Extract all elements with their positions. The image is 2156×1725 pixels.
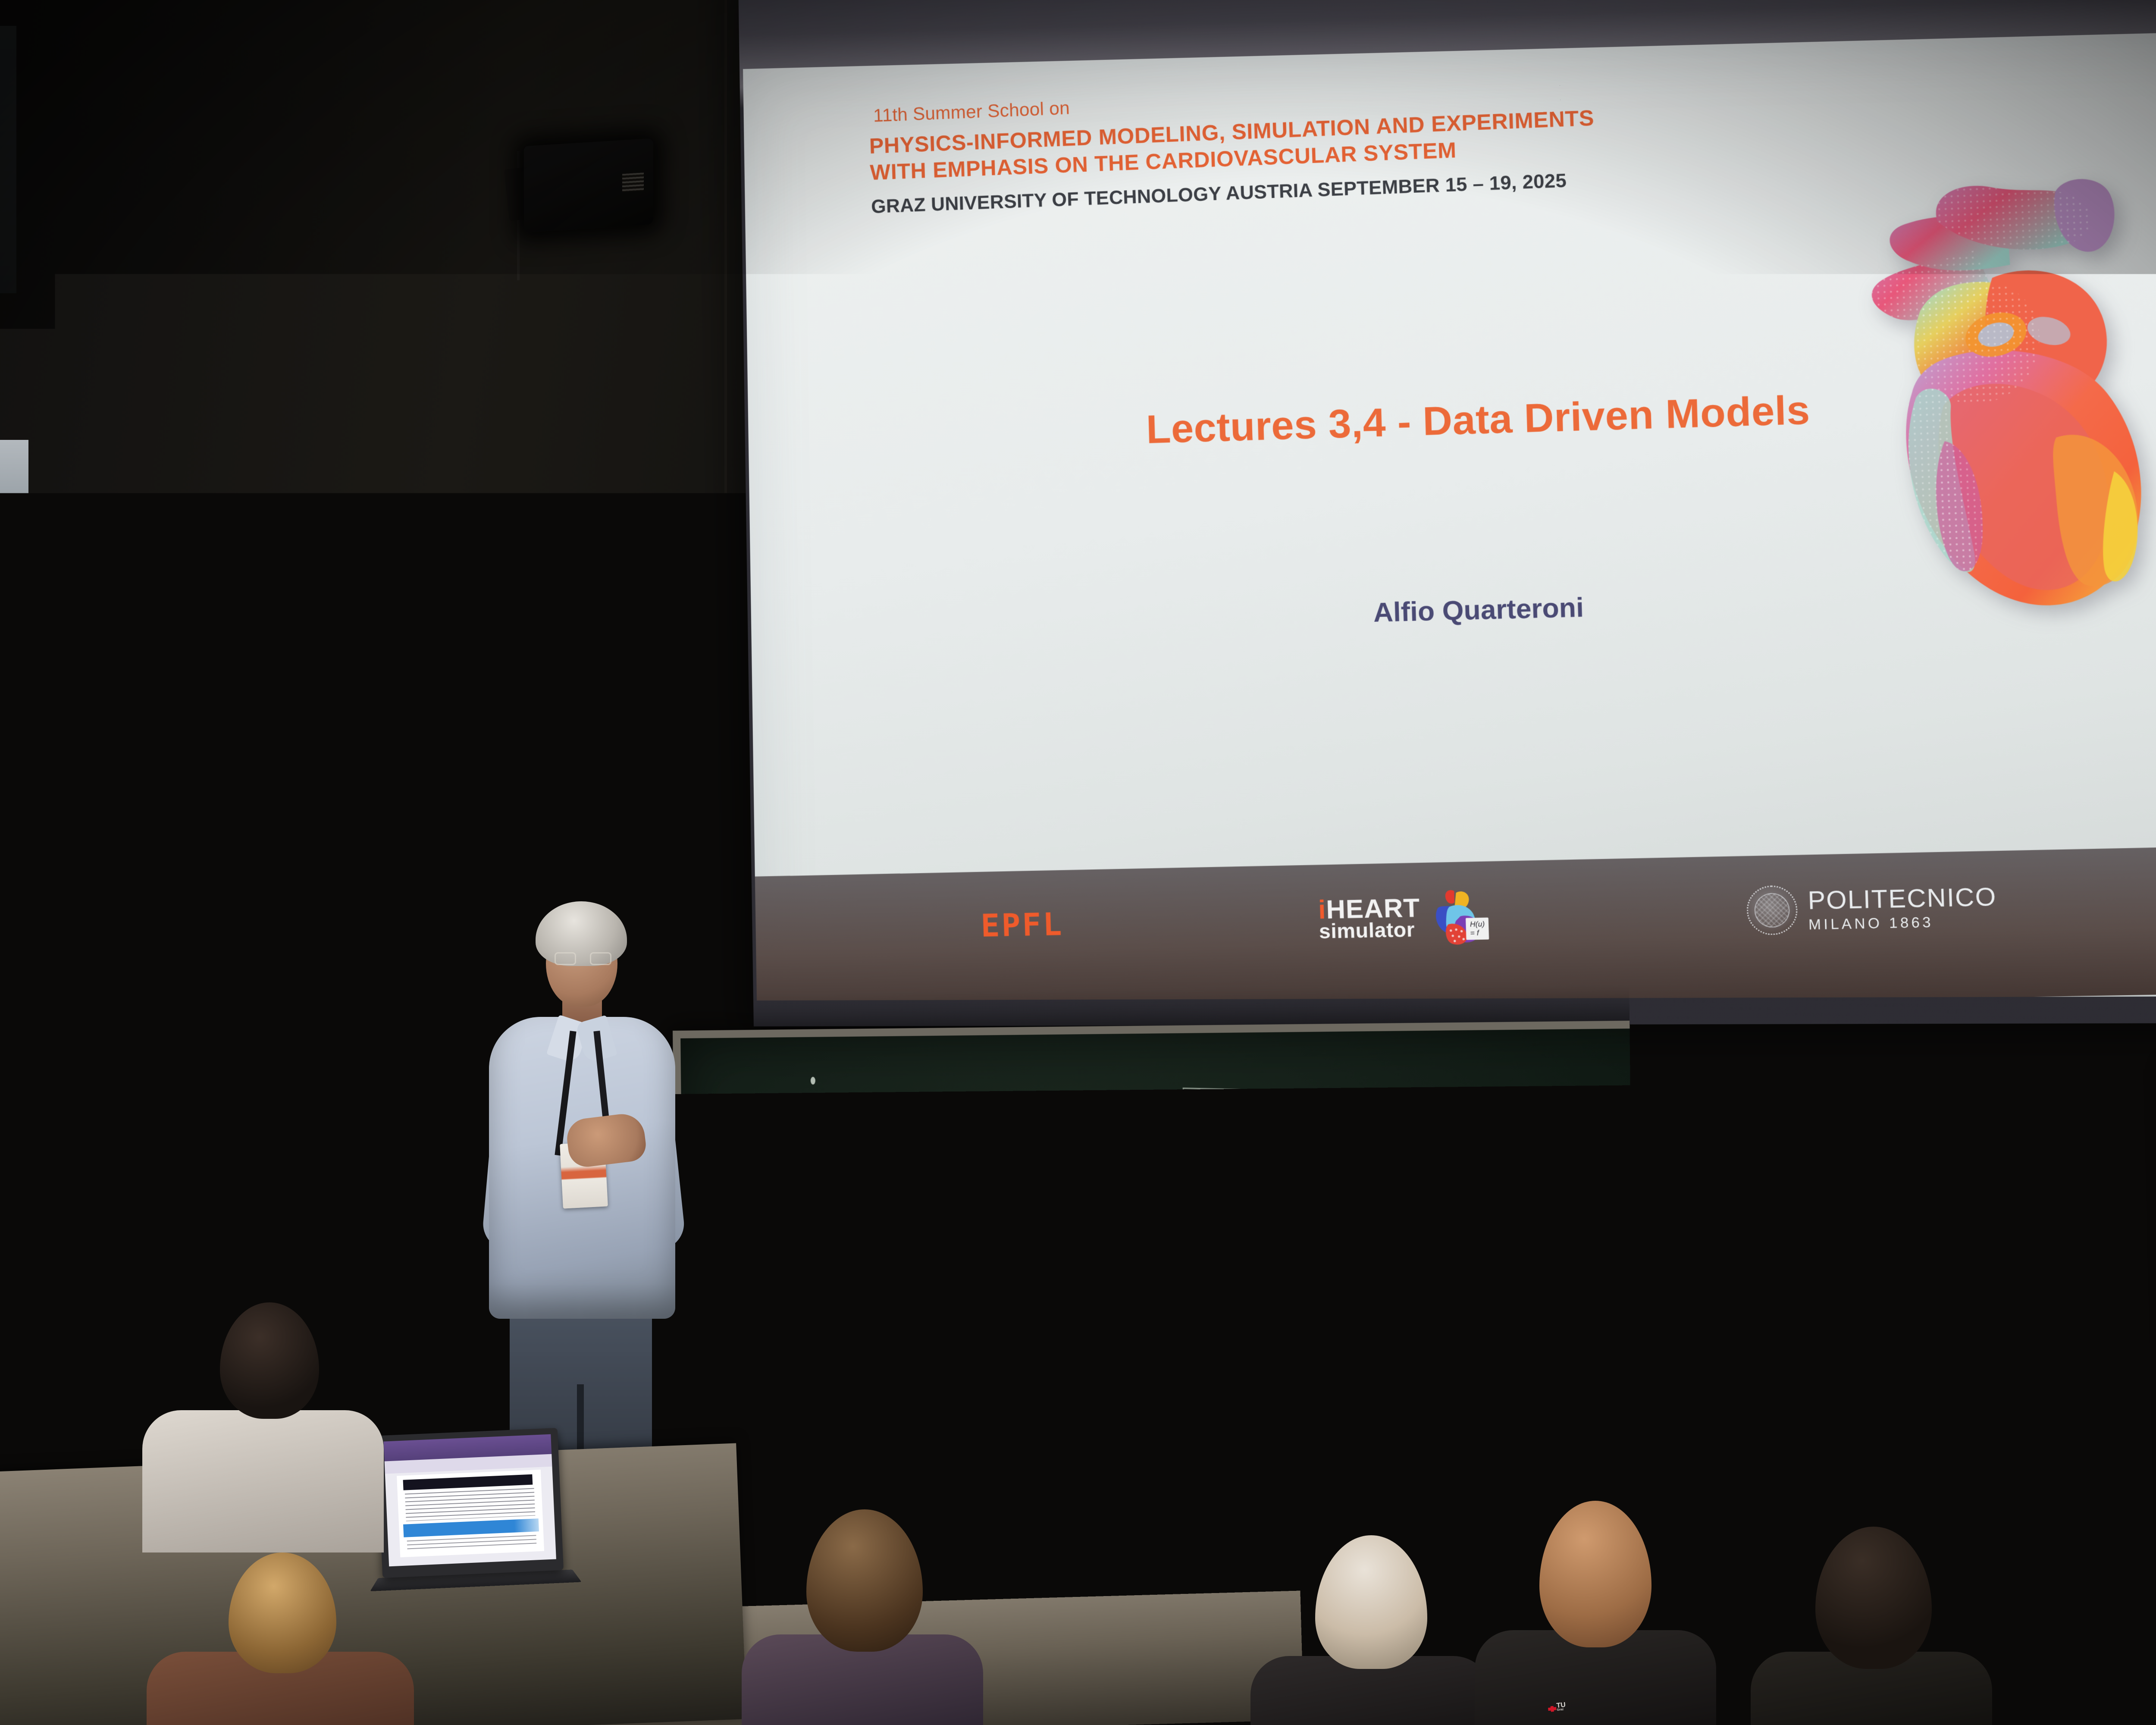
document-page [397,1470,544,1557]
document-selected-heading [403,1474,533,1490]
presenter [470,901,694,1514]
wall-seam [0,742,759,744]
anatomical-heart-icon [264,881,376,986]
slide-superscript: 11th Summer School on [873,97,1070,126]
poster-superscript: 11ᵗʰ Summer School on [251,805,379,814]
document-footer-text [407,1535,537,1552]
clock-brand-mark [433,623,460,630]
poster-title-line-1: PHYSICS-INFORMED MODELING, SIMULATION [251,813,380,831]
epfl-logo: EPFL [980,906,1064,944]
audience-head [220,1302,319,1419]
audience-head-with-cap [1315,1535,1427,1669]
poster-title-line-2: AND EXPERIMENTS WITH EMPHASIS ON THE [251,828,380,846]
lecture-hall-photo: 11ᵗʰ Summer School on PHYSICS-INFORMED M… [0,0,2156,1725]
iheart-subtitle: simulator [1319,920,1421,941]
audience-head [2083,1578,2156,1690]
audience-member-5: TU Graz [1475,1501,1716,1725]
audience-head [229,1552,336,1673]
wall-seam [724,0,727,1121]
document-body-text [405,1488,536,1521]
politecnico-wordmark: POLITECNICO [1808,884,1997,913]
politecnico-milano-logo: POLITECNICO MILANO 1863 [1746,881,1998,935]
iheart-equation-badge: H(u) = f [1466,918,1489,940]
audience-head [806,1509,923,1652]
audience-member-2 [147,1552,414,1725]
audience-head [1815,1527,1932,1669]
window-light-sliver [0,440,28,578]
audience-member-6 [1751,1527,1992,1725]
chalk-training-set-label: TRAINING SET [787,1335,948,1366]
clock-face [390,547,503,660]
poster-divider [259,854,375,856]
iheart-heart-icon: H(u) = f [1426,887,1487,946]
clock-minute-hand [445,571,467,609]
projection-screen: 11th Summer School on PHYSICS-INFORMED M… [738,0,2156,1026]
tu-graz-logo: TU Graz [259,1046,278,1054]
poster-title-line-3: CARDIOVASCULAR SYSTEM [252,844,381,853]
presentation-slide: 11th Summer School on PHYSICS-INFORMED M… [743,31,2156,1000]
politecnico-crest-icon [1746,885,1798,935]
wall-clock [390,547,503,660]
tu-cross-icon [259,1047,269,1054]
audience-member-1 [142,1302,384,1544]
speaker-grill-icon [622,172,644,192]
chalk-function-symbol: f [985,1165,998,1204]
wall-poster-small: 11ᵗʰ Summer School on PHYSICS-INFORMED M… [243,790,396,1060]
poster-heart-artwork [254,881,386,991]
heart-mesh-colormap-icon [1852,165,2156,641]
window-edge [0,26,16,293]
laptop-screen[interactable] [384,1434,556,1567]
eyeglasses-icon [555,952,611,965]
chalk-output-label: OUTPUT [1200,1105,1282,1126]
chalk-arrow-icon [924,1117,1130,1205]
audience-member-4 [1250,1535,1492,1725]
water-glass [242,1113,277,1160]
iheart-simulator-logo: iHEART simulator [1318,887,1487,948]
audience-torso [142,1410,384,1552]
document-highlighted-row [403,1518,539,1537]
poster-date: SEPTEMBER 15-19, 2025 [253,872,382,881]
tu-graz-logo: TU Graz [1548,1703,1566,1712]
politecnico-subtitle: MILANO 1863 [1808,913,1998,931]
audience-member-7 [2018,1578,2156,1725]
chalk-model-label: (MODEL) [960,1260,1039,1280]
chalkboard-surface: f (MODEL) OUTPUT TRAINING SET [680,1023,2156,1573]
audience-member-3 [742,1509,983,1725]
audience-head [1539,1501,1651,1647]
wall-speaker [524,138,653,232]
tu-cross-icon [1548,1706,1556,1712]
